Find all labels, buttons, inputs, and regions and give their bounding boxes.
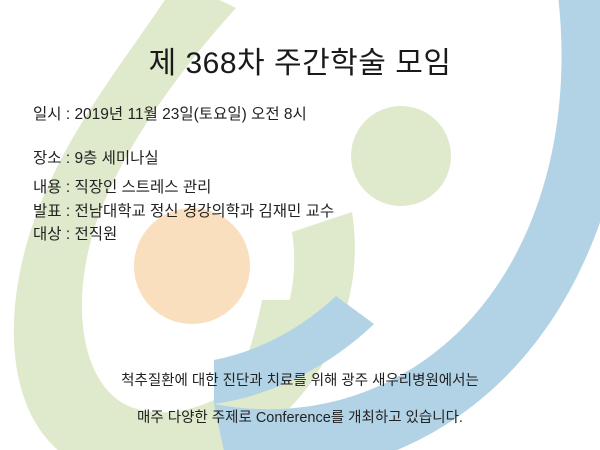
page-title: 제 368차 주간학술 모임: [0, 38, 600, 82]
event-detail-datetime: 일시 : 2019년 11월 23일(토요일) 오전 8시: [33, 107, 553, 123]
footer-note-line-2: 매주 다양한 주제로 Conference를 개최하고 있습니다.: [0, 411, 600, 426]
footer-note-line-1: 척추질환에 대한 진단과 치료를 위해 광주 새우리병원에서는: [0, 374, 600, 389]
presentation-slide: 제 368차 주간학술 모임 일시 : 2019년 11월 23일(토요일) 오…: [0, 0, 600, 450]
event-detail-speaker: 발표 : 전남대학교 정신 경강의학과 김재민 교수: [33, 204, 553, 220]
event-detail-location: 장소 : 9층 세미나실: [33, 151, 553, 167]
footer-note-block: 척추질환에 대한 진단과 치료를 위해 광주 새우리병원에서는 매주 다양한 주…: [0, 374, 600, 425]
event-detail-topic: 내용 : 직장인 스트레스 관리: [33, 180, 553, 196]
event-details-block: 일시 : 2019년 11월 23일(토요일) 오전 8시 장소 : 9층 세미…: [33, 107, 553, 243]
slide-content: 제 368차 주간학술 모임 일시 : 2019년 11월 23일(토요일) 오…: [0, 0, 600, 450]
event-detail-audience: 대상 : 전직원: [33, 227, 553, 243]
